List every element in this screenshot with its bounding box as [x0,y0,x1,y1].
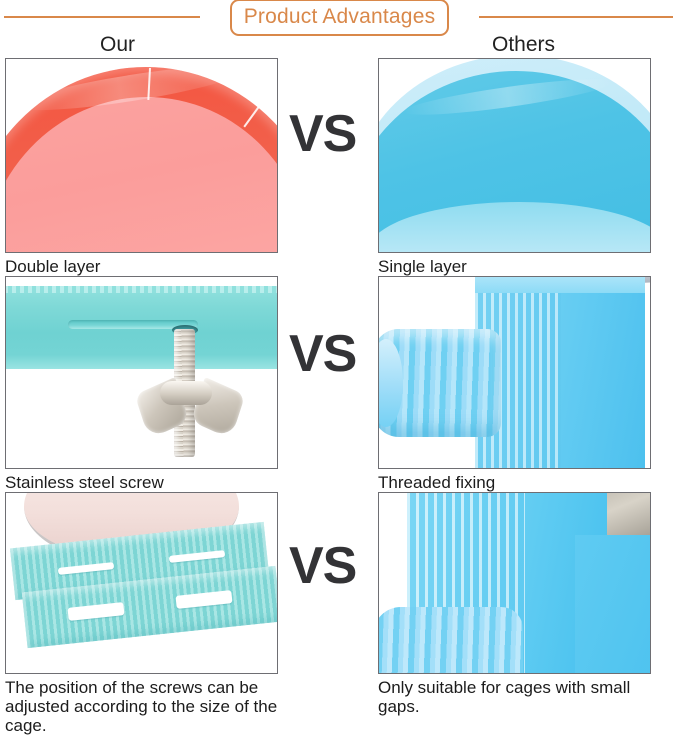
product-photo-ours-fixing [5,276,278,469]
comparison-row-layer: VS Double layer [0,58,679,276]
comparison-cell-others-adjustability: Only suitable for cages with small gaps. [378,492,651,716]
product-photo-others-layer [378,58,651,253]
column-title-ours: Our [100,33,135,57]
blue-bracket-foot [378,607,523,674]
caption-ours-fixing: Stainless steel screw [5,469,278,492]
comparison-cell-ours-fixing: Stainless steel screw [5,276,278,492]
product-photo-others-adjustability [378,492,651,674]
teal-rail-teeth [5,286,278,293]
product-photo-ours-layer [5,58,278,253]
caption-ours-adjustability: The position of the screws can be adjust… [5,674,278,735]
comparison-cell-ours-adjustability: The position of the screws can be adjust… [5,492,278,735]
blue-bracket-side-face [575,535,651,674]
header-rule-left [4,16,200,18]
comparison-cell-others-fixing: Threaded fixing [378,276,651,492]
caption-ours-layer: Double layer [5,253,278,276]
column-title-others: Others [492,33,555,57]
vs-divider-1: VS [289,108,356,160]
column-titles: Our Others [0,34,679,58]
wing-nut-hub [160,381,212,405]
blue-block-top-face [475,276,645,293]
comparison-rows: VS Double layer [0,58,679,735]
page-header: Product Advantages [0,0,679,34]
comparison-row-fixing: VS Stainless steel screw [0,276,679,492]
comparison-cell-others-layer: Single layer [378,58,651,276]
caption-others-layer: Single layer [378,253,651,276]
caption-others-adjustability: Only suitable for cages with small gaps. [378,674,651,716]
comparison-row-adjustability: VS The position of the screws can be adj… [0,492,679,735]
product-photo-others-fixing [378,276,651,469]
product-photo-ours-adjustability [5,492,278,674]
page-title-badge: Product Advantages [230,0,450,36]
vs-divider-2: VS [289,328,356,380]
teal-rail-body [5,289,278,369]
comparison-cell-ours-layer: Double layer [5,58,278,276]
caption-others-fixing: Threaded fixing [378,469,651,492]
header-rule-right [479,16,673,18]
vs-divider-3: VS [289,540,356,592]
